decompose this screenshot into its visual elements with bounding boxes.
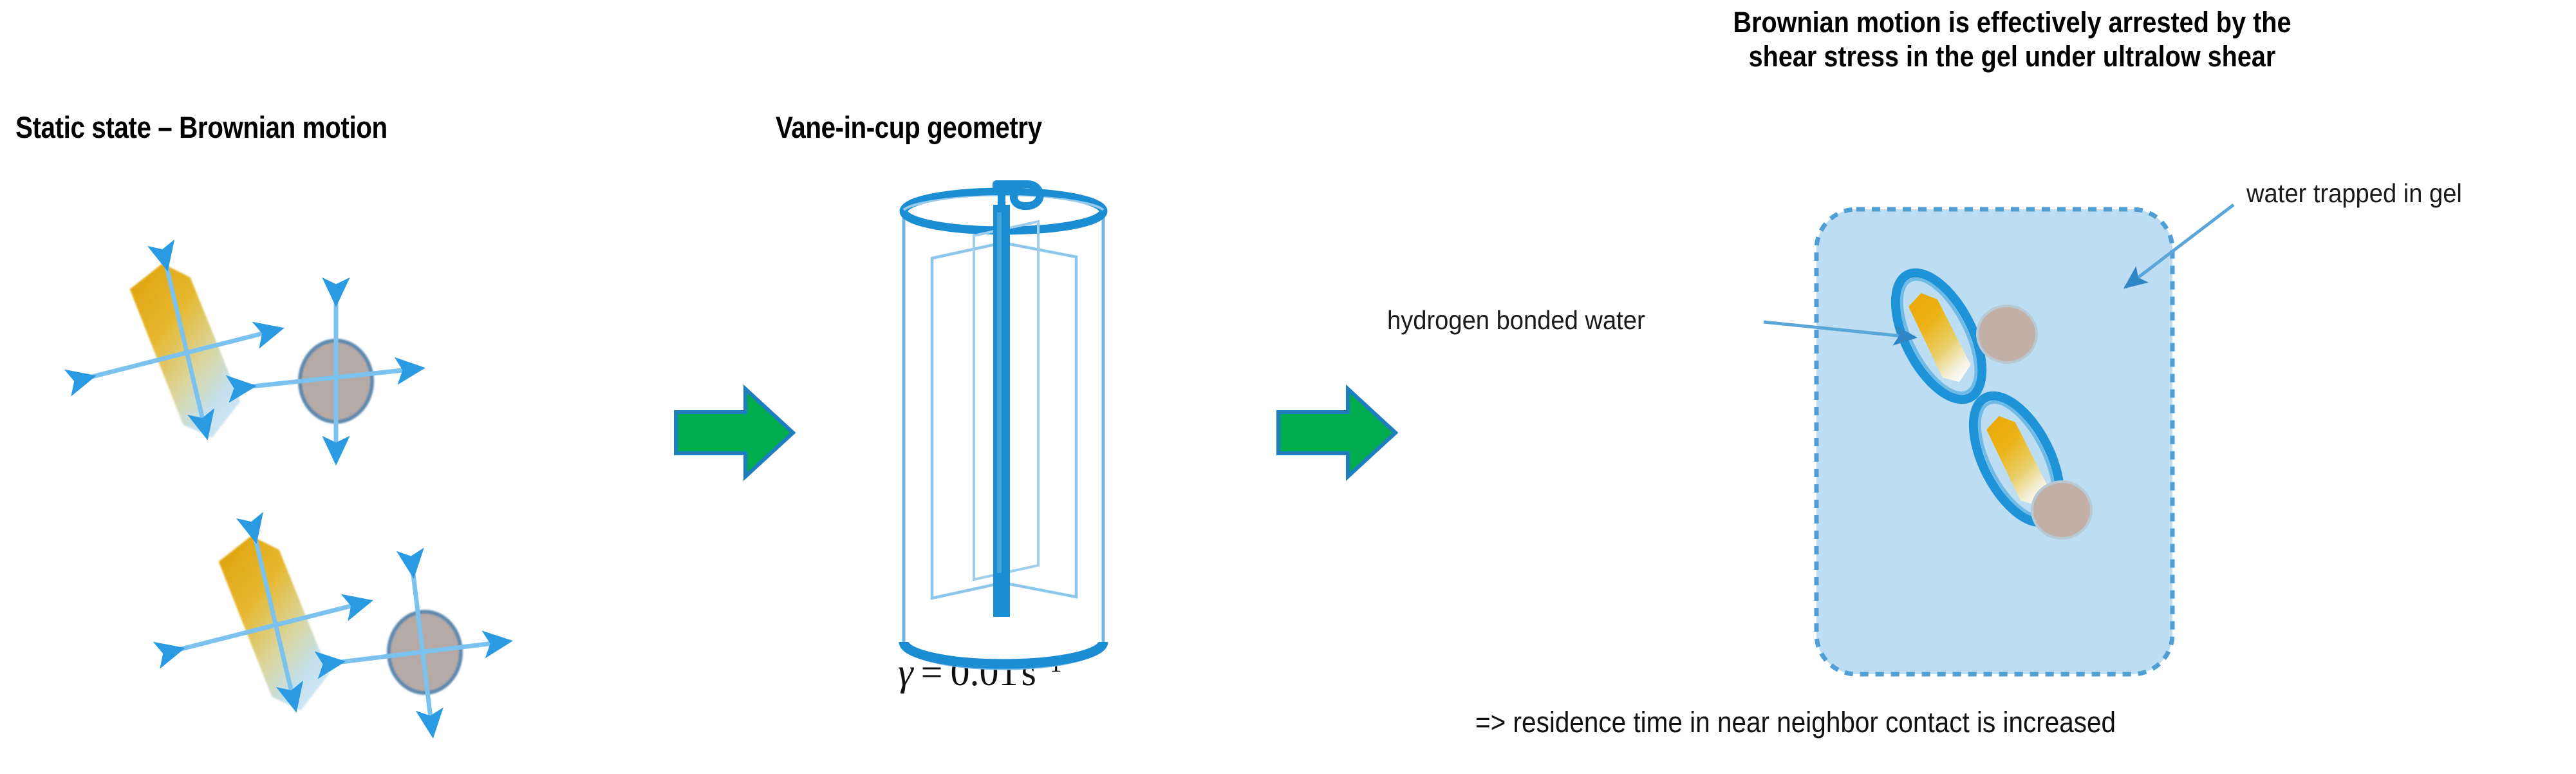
figure-canvas: Static state – Brownian motion Vane-in-c… <box>0 0 2576 774</box>
vane-shaft-highlight <box>997 212 1002 573</box>
cup-bottom-rim <box>904 642 1103 664</box>
vane-in-cup-geometry <box>904 184 1103 668</box>
brownian-circle-2 <box>341 574 509 734</box>
vane-blade-left <box>932 243 1003 598</box>
arrow-shape <box>676 389 793 477</box>
flow-arrow-2 <box>1278 389 1395 477</box>
gel-box-group <box>1816 209 2172 674</box>
arrow-shape <box>1278 389 1395 477</box>
gel-circle-2 <box>2032 482 2091 538</box>
flow-arrow-1 <box>676 389 793 477</box>
graphics-layer <box>0 0 2576 774</box>
gel-circle-1 <box>1977 306 2037 363</box>
brownian-circle-1 <box>252 303 421 461</box>
brownian-particle-group <box>92 256 509 734</box>
